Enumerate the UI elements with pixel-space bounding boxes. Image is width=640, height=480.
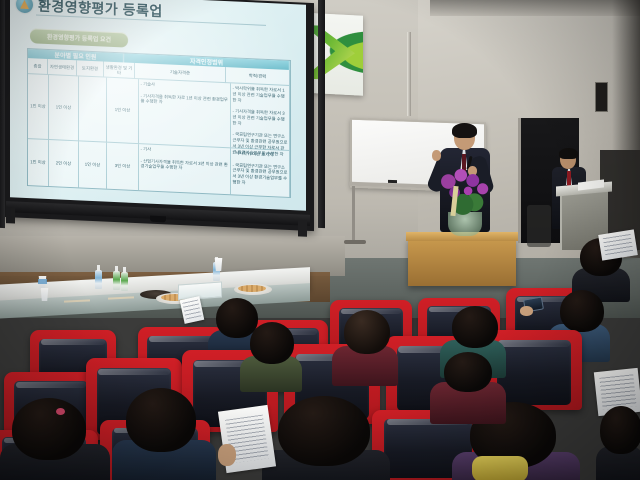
slide-table-cell: 1인 이상	[49, 75, 79, 141]
slide-table-cell: 2인 이상	[49, 140, 79, 187]
banner-pole	[407, 32, 411, 116]
slide-table-cell: 1인 이상	[28, 139, 49, 186]
slide-table-sub-header-2: 토지환경	[77, 61, 104, 78]
slide-table: 분야별 필요 인원 자격인정범위 총괄 자연생태환경 토지환경 생활환경 및 기…	[27, 48, 291, 198]
audience-head	[600, 406, 640, 454]
audience-head	[452, 306, 498, 348]
audience-scarf	[472, 456, 528, 480]
projection-screen-surface: 환경영향평가 등록업 환경영향평가 등록업 요건 분야별 필요 인원 자격인정범…	[10, 0, 306, 211]
slide-table-cell: - 기사 - 산업기사자격을 취득한 자로서 3년 이상 관련 환경기술업무를 …	[139, 144, 231, 194]
seat-highlight	[149, 336, 213, 342]
seat-highlight	[16, 382, 86, 388]
hair-tie	[56, 408, 65, 415]
slide-emblem-icon	[16, 0, 33, 13]
slide-table-cell: - 박사학위를 취득한 자로서 1년 이상 관련 기술업무를 수행한 자 - 기…	[231, 83, 290, 151]
slide-table-sub-header-1: 자연생태환경	[48, 59, 77, 76]
presentation-slide: 환경영향평가 등록업 환경영향평가 등록업 요건 분야별 필요 인원 자격인정범…	[10, 0, 306, 211]
seat-highlight	[98, 369, 169, 376]
slide-table-cell: 3인 이상	[107, 143, 139, 190]
ceiling-edge	[430, 0, 640, 16]
slide-table-cell: 1인 이상	[107, 78, 139, 144]
audience-hand	[520, 306, 533, 316]
orchid-arrangement	[440, 168, 492, 220]
audience-head	[12, 398, 86, 460]
wooden-cabinet	[408, 238, 516, 286]
slide-table-cell	[79, 76, 107, 142]
water-bottle	[113, 271, 120, 290]
handout-text-lines	[600, 374, 637, 409]
slide-table-cell: 1인 이상	[79, 141, 107, 188]
screen-leg-right	[298, 220, 307, 236]
seat-cushion	[497, 340, 572, 406]
audience-member	[332, 310, 398, 382]
water-bottle	[121, 272, 128, 291]
audience-member	[430, 352, 506, 422]
slide-table-cell: 1인 이상	[28, 74, 49, 140]
seat-highlight	[41, 339, 105, 345]
audience-member	[262, 396, 390, 480]
slide-table-row: 1인 이상 1인 이상 1인 이상 - 기술사 - 기사자격을 취득한 자로 1…	[28, 74, 290, 151]
slide-table-cell: - 기술사 - 기사자격을 취득한 자로 1년 이상 관련 환경업무를 수행한 …	[139, 79, 231, 148]
audience-head	[126, 388, 196, 452]
paper-cup-band	[38, 279, 47, 284]
handout-text-lines	[183, 300, 201, 320]
corner-shadow	[612, 0, 640, 262]
wall-speaker-icon	[595, 82, 608, 112]
screen-pole-left	[0, 0, 5, 228]
seat-highlight	[498, 340, 569, 346]
audience-member	[596, 406, 640, 480]
audience-head	[344, 310, 390, 354]
snack-food	[238, 285, 266, 292]
handout-document	[598, 229, 638, 260]
audience-head	[560, 290, 604, 332]
whiteboard-stand-left	[352, 186, 355, 242]
audience-member	[112, 388, 216, 480]
seminar-photograph: 수회 구전학토론 대학교 환경공학과	[0, 0, 640, 480]
slide-table-cell: - 석사학위 이상 소지자 - 국공립연구기관 또는 연구소 근무자 및 환경관…	[231, 148, 290, 197]
handout-text-lines	[603, 234, 633, 257]
side-chair	[527, 205, 551, 247]
screen-pole-right	[318, 0, 325, 228]
audience-member	[0, 398, 110, 480]
audience-member	[240, 322, 302, 390]
whiteboard-foot	[344, 240, 366, 244]
slide-section-label: 환경영향평가 등록업 요건	[30, 28, 128, 47]
audience-hand	[218, 444, 236, 466]
slide-table-sub-header-3: 생활환경 및 기타	[104, 62, 135, 79]
slide-table-sub-header-0: 총괄	[28, 58, 48, 75]
whiteboard-marker	[388, 180, 397, 183]
audience-head	[278, 396, 370, 466]
audience-head	[444, 352, 492, 392]
screen-leg-left	[6, 207, 15, 223]
projection-screen: 환경영향평가 등록업 환경영향평가 등록업 요건 분야별 필요 인원 자격인정범…	[2, 0, 314, 231]
screen-pull-knob	[150, 216, 166, 223]
podium-person-hair	[559, 148, 578, 159]
presenter-hair	[452, 123, 477, 138]
presenter-left-hand	[432, 150, 441, 161]
water-bottle	[95, 270, 102, 289]
audience-head	[250, 322, 294, 364]
